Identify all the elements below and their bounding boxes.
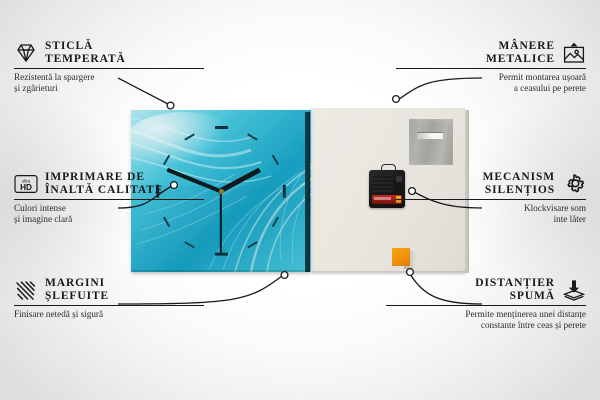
ultra-hd-bottom-text: HD <box>20 183 32 192</box>
callout-distantier-spuma[interactable]: DISTANȚIERSPUMĂ Permite menținerea unei … <box>386 277 586 331</box>
callout-title: STICLĂTEMPERATĂ <box>45 40 126 65</box>
gear-icon <box>562 172 586 196</box>
callout-rule <box>14 305 204 306</box>
battery-label <box>374 197 391 200</box>
ultra-hd-icon: ultra HD <box>14 172 38 196</box>
callout-title: MARGINIȘLEFUITE <box>45 277 109 302</box>
callout-subtitle: Permite menținerea unei distanțeconstant… <box>386 309 586 330</box>
infographic-canvas: STICLĂTEMPERATĂ Rezistentă la spargereși… <box>0 0 600 400</box>
callout-subtitle: Permit montarea ușoarăa ceasului pe pere… <box>396 72 586 93</box>
foam-spacer <box>392 248 410 266</box>
callout-subtitle: Culori intenseși imagine clară <box>14 203 204 224</box>
callout-rule <box>396 199 586 200</box>
arrow-down-pad-icon <box>562 278 586 302</box>
callout-subtitle: Rezistentă la spargereși zgârieturi <box>14 72 204 93</box>
diamond-icon <box>14 41 38 65</box>
callout-title: IMPRIMARE DEÎNALTĂ CALITATE <box>45 171 163 196</box>
callout-subtitle: Finisare netedă și sigură <box>14 309 204 320</box>
metal-hanger-bracket <box>409 119 453 165</box>
callout-title-row: MÂNEREMETALICE <box>396 40 586 65</box>
clock-side-edge <box>305 112 310 272</box>
mechanism-hanging-loop <box>381 164 396 173</box>
clock-second-hand <box>220 191 222 253</box>
callout-title-row: DISTANȚIERSPUMĂ <box>386 277 586 302</box>
callout-sticla-temperata[interactable]: STICLĂTEMPERATĂ Rezistentă la spargereși… <box>14 40 204 94</box>
callout-title-row: ultra HD IMPRIMARE DEÎNALTĂ CALITATE <box>14 171 204 196</box>
clock-tick <box>215 253 228 256</box>
callout-manere-metalice[interactable]: MÂNEREMETALICE Permit montarea ușoarăa c… <box>396 40 586 94</box>
callout-imprimare-calitate[interactable]: ultra HD IMPRIMARE DEÎNALTĂ CALITATE Cul… <box>14 171 204 225</box>
hanger-slot <box>417 132 443 139</box>
clock-center-pivot <box>219 189 224 194</box>
callout-rule <box>14 199 204 200</box>
clock-shadow <box>132 270 310 275</box>
callout-title-row: STICLĂTEMPERATĂ <box>14 40 204 65</box>
callout-mecanism-silentios[interactable]: MECANISMSILENȚIOS Klockvisare sominte lå… <box>396 171 586 225</box>
callout-margini-slefuite[interactable]: MARGINIȘLEFUITE Finisare netedă și sigur… <box>14 277 204 320</box>
callout-rule <box>396 68 586 69</box>
clock-tick <box>283 184 286 197</box>
callout-title: DISTANȚIERSPUMĂ <box>475 277 555 302</box>
picture-frame-icon <box>562 41 586 65</box>
back-panel-shadow <box>312 271 466 276</box>
callout-rule <box>386 305 586 306</box>
callout-title-row: MARGINIȘLEFUITE <box>14 277 204 302</box>
callout-rule <box>14 68 204 69</box>
callout-title: MECANISMSILENȚIOS <box>483 171 555 196</box>
hatch-lines-icon <box>14 278 38 302</box>
callout-subtitle: Klockvisare sominte låter <box>396 203 586 224</box>
callout-title: MÂNEREMETALICE <box>486 40 555 65</box>
clock-tick <box>215 126 228 129</box>
callout-title-row: MECANISMSILENȚIOS <box>396 171 586 196</box>
mechanism-panel <box>373 175 393 192</box>
